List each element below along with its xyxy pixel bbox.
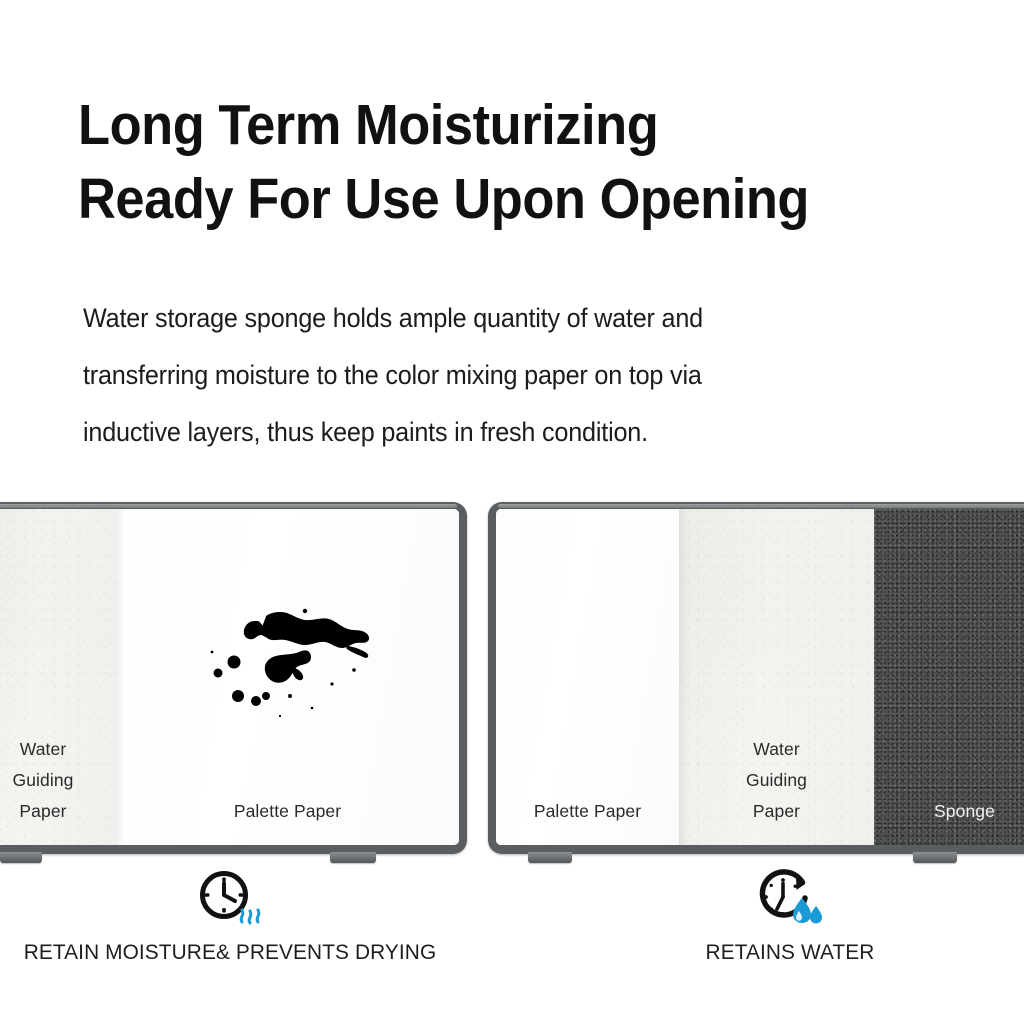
headline-line-1: Long Term Moisturizing	[78, 88, 906, 162]
palette-case-left-inner: Water Guiding Paper Palette Paper	[0, 509, 459, 845]
layer-seam-shadow	[116, 509, 125, 845]
case-clip-left	[0, 852, 42, 863]
layer-palette-paper: Palette Paper	[496, 509, 679, 845]
layer-label-palette-paper: Palette Paper	[534, 796, 641, 845]
body-line-2: transferring moisture to the color mixin…	[83, 347, 919, 404]
clock-with-steam-icon	[192, 868, 268, 930]
clock-with-water-drops-icon	[752, 868, 828, 930]
body-paragraph: Water storage sponge holds ample quantit…	[83, 290, 919, 461]
headline-line-2: Ready For Use Upon Opening	[78, 162, 906, 236]
feature-caption-right: RETAINS WATER	[567, 940, 1013, 965]
layer-label-sponge: Sponge	[934, 796, 995, 845]
feature-retains-water: RETAINS WATER	[560, 868, 1020, 965]
body-line-1: Water storage sponge holds ample quantit…	[83, 290, 919, 347]
layer-label-water-guiding-paper: Water Guiding Paper	[746, 734, 807, 845]
palette-case-right-inner: Palette Paper Water Guiding Paper Sponge	[496, 509, 1024, 845]
feature-retain-moisture: RETAIN MOISTURE& PREVENTS DRYING	[0, 868, 460, 965]
case-clip-left	[528, 852, 572, 863]
body-line-3: inductive layers, thus keep paints in fr…	[83, 404, 919, 461]
case-clip-right	[913, 852, 957, 863]
feature-icon-wrapper-left	[0, 868, 460, 930]
layer-palette-paper: Palette Paper	[116, 509, 459, 845]
layer-seam-shadow	[679, 509, 688, 845]
palette-case-right: Palette Paper Water Guiding Paper Sponge	[488, 502, 1024, 854]
page-title: Long Term Moisturizing Ready For Use Upo…	[78, 88, 906, 236]
layer-water-guiding-paper: Water Guiding Paper	[679, 509, 874, 845]
palette-case-left: Water Guiding Paper Palette Paper	[0, 502, 467, 854]
layer-label-water-guiding-paper: Water Guiding Paper	[12, 734, 73, 845]
layer-water-guiding-paper: Water Guiding Paper	[0, 509, 116, 845]
layer-sponge: Sponge	[874, 509, 1024, 845]
case-clip-right	[330, 852, 376, 863]
layer-label-palette-paper: Palette Paper	[234, 796, 341, 845]
feature-icon-wrapper-right	[560, 868, 1020, 930]
feature-caption-left: RETAIN MOISTURE& PREVENTS DRYING	[7, 940, 453, 965]
